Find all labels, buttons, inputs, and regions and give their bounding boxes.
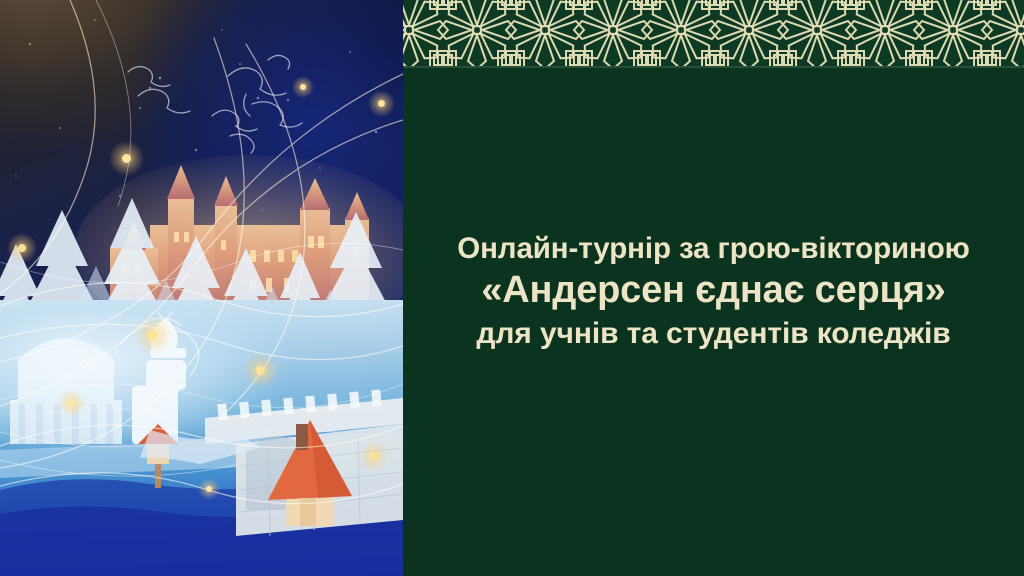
embroidery-ornament-band <box>403 0 1024 66</box>
frozen-lake <box>0 300 403 576</box>
ornament-divider <box>403 66 1024 68</box>
headline-line-1: Онлайн-турнір за грою-вікториною <box>417 232 1010 266</box>
headline-line-3: для учнів та студентів коледжів <box>417 316 1010 352</box>
content-panel: Онлайн-турнір за грою-вікториною «Андерс… <box>403 0 1024 576</box>
headline-block: Онлайн-турнір за грою-вікториною «Андерс… <box>403 232 1024 352</box>
headline-line-2: «Андерсен єднає серця» <box>417 268 1010 314</box>
presentation-slide: Онлайн-турнір за грою-вікториною «Андерс… <box>0 0 1024 576</box>
winter-fairytale-illustration <box>0 0 403 576</box>
